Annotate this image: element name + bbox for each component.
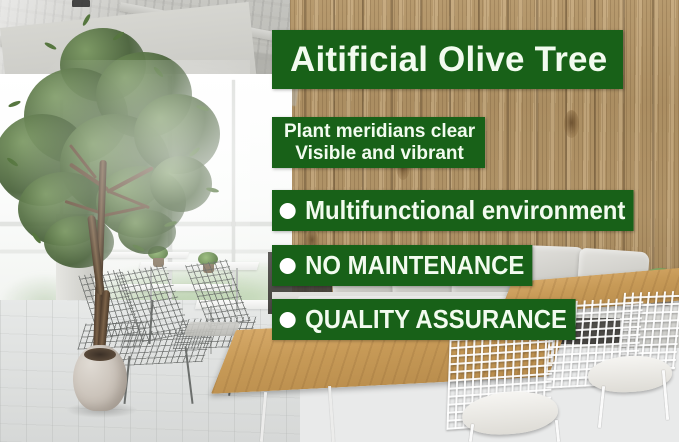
olive-leaf [44, 41, 57, 51]
product-title: Aitificial Olive Tree [290, 40, 607, 80]
feature-banner-no-maintenance: NO MAINTENANCE [272, 245, 533, 286]
feature-label: NO MAINTENANCE [305, 250, 524, 281]
feature-label: Multifunctional environment [305, 195, 625, 226]
artificial-olive-tree [0, 10, 250, 410]
feature-banner-multifunctional-environment: Multifunctional environment [272, 190, 634, 231]
bullet-dot-icon [280, 312, 296, 328]
pot-opening [84, 348, 116, 361]
tree-canopy [150, 156, 212, 212]
subtitle-line-1: Plant meridians clear [284, 121, 475, 142]
tree-planter-pot [73, 345, 127, 411]
subtitle-line-2: Visible and vibrant [295, 143, 464, 164]
product-subtitle-banner: Plant meridians clear Visible and vibran… [272, 117, 485, 168]
table-leg [328, 386, 335, 442]
olive-leaf [82, 13, 92, 26]
chair-leg [598, 386, 605, 428]
product-title-banner: Aitificial Olive Tree [272, 30, 623, 89]
ceiling-fixture-icon [72, 0, 90, 7]
olive-leaf [8, 100, 22, 109]
feature-label: QUALITY ASSURANCE [305, 304, 567, 335]
tree-canopy [118, 210, 176, 254]
bullet-dot-icon [280, 258, 296, 274]
feature-banner-quality-assurance: QUALITY ASSURANCE [272, 299, 575, 340]
chair-leg [555, 420, 560, 442]
wood-knot [564, 110, 579, 138]
product-image: Aitificial Olive Tree Plant meridians cl… [0, 0, 679, 442]
bullet-dot-icon [280, 203, 296, 219]
